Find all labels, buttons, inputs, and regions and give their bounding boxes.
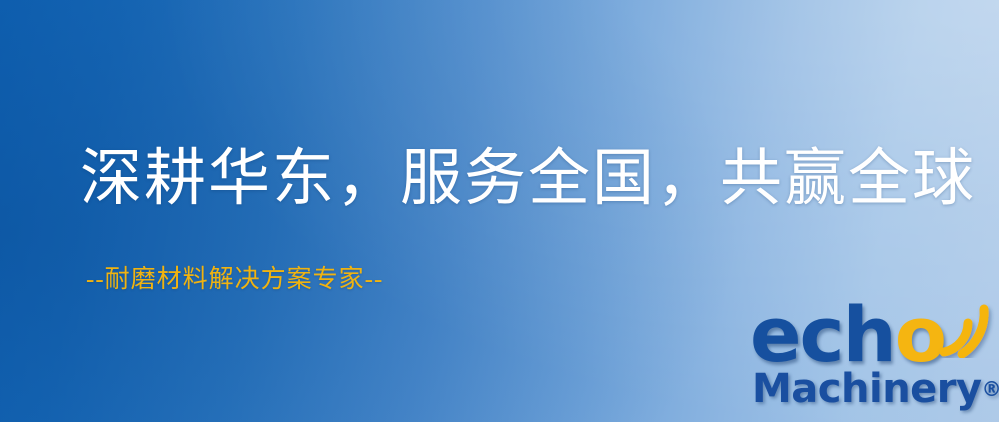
trademark-icon: ® (982, 377, 999, 401)
logo-machinery-label: Machinery (752, 366, 982, 412)
logo-brand-text: echo (750, 300, 945, 370)
logo-wordmark: echo (750, 300, 945, 370)
banner-subtitle: --耐磨材料解决方案专家-- (86, 266, 383, 294)
promo-banner: 深耕华东，服务全国，共赢全球 --耐磨材料解决方案专家-- echo Machi… (0, 0, 999, 422)
page-title: 深耕华东，服务全国，共赢全球 (80, 148, 976, 210)
company-logo[interactable]: echo Machinery® (750, 300, 995, 418)
logo-secondary-text: Machinery® (752, 366, 999, 412)
